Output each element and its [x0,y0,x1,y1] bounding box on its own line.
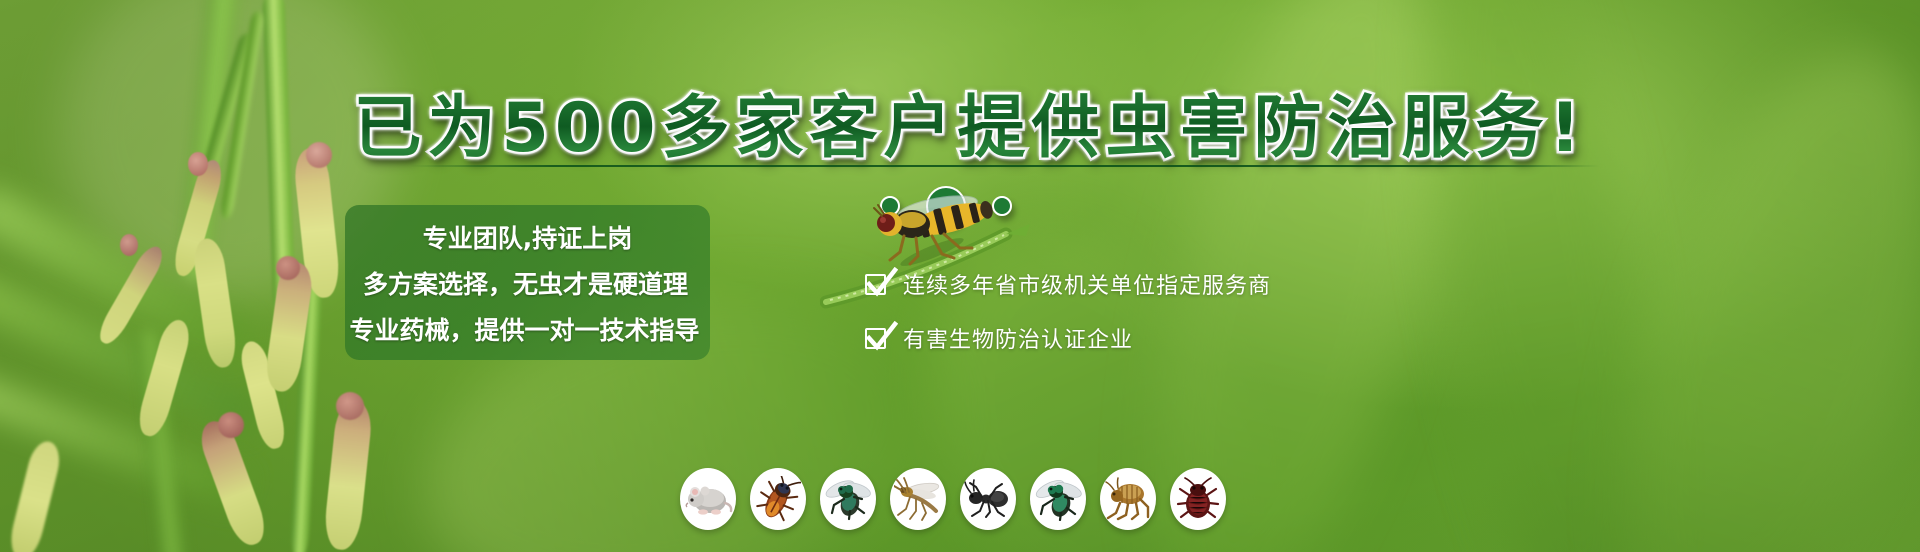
checkbox-checked-icon [865,272,889,296]
pest-control-banner: 已为500多家客户提供虫害防治服务! 已为500多家客户提供虫害防治服务! [0,0,1920,552]
feature-line-1: 专业团队,持证上岗 [423,219,633,255]
mosquito-icon[interactable] [890,468,946,530]
cockroach-icon[interactable] [750,468,806,530]
title-divider [410,165,1600,167]
feature-line-2: 多方案选择，无虫才是硬道理 [363,265,688,301]
list-item: 连续多年省市级机关单位指定服务商 [865,268,1271,300]
housefly-icon[interactable] [820,468,876,530]
checklist-label: 连续多年省市级机关单位指定服务商 [903,268,1271,300]
flea-icon[interactable] [1100,468,1156,530]
list-item: 有害生物防治认证企业 [865,322,1271,354]
checklist-label: 有害生物防治认证企业 [903,322,1133,354]
page-title: 已为500多家客户提供虫害防治服务! [0,72,1920,171]
mouse-icon[interactable] [680,468,736,530]
greenbottle-fly-icon[interactable] [1030,468,1086,530]
ant-icon[interactable] [960,468,1016,530]
feature-line-3: 专业药械，提供一对一技术指导 [349,311,699,347]
feature-box-text: 专业团队,持证上岗 多方案选择，无虫才是硬道理 专业药械，提供一对一技术指导 [345,205,710,360]
pest-icon-row [680,468,1226,530]
bedbug-icon[interactable] [1170,468,1226,530]
checkbox-checked-icon [865,326,889,350]
checklist: 连续多年省市级机关单位指定服务商 有害生物防治认证企业 [865,268,1271,354]
